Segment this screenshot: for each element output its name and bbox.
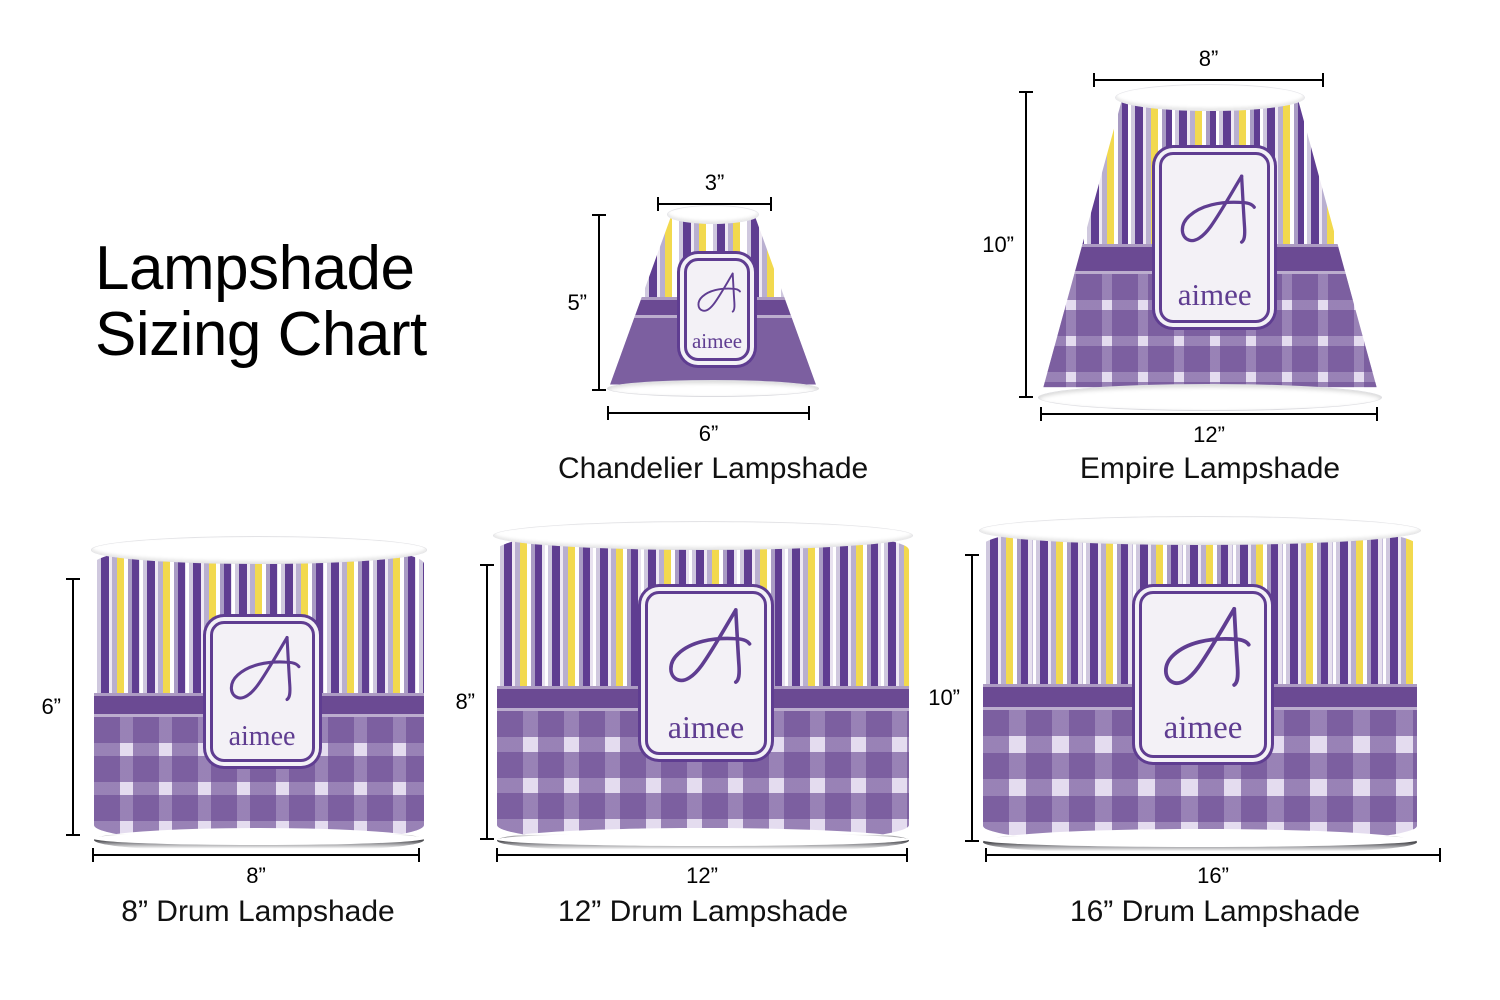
drum12-bottom-dimension: 12”	[496, 848, 908, 862]
drum8-shade-illustration: aimee	[94, 543, 424, 843]
monogram-name: aimee	[687, 331, 748, 352]
monogram-name: aimee	[648, 711, 763, 743]
drum16-height-dimension: 10”	[965, 554, 979, 842]
chandelier-top-rim	[667, 205, 759, 224]
drum12-caption: 12” Drum Lampshade	[548, 895, 858, 929]
chandelier-height-label: 5”	[567, 290, 587, 316]
drum16-bottom-lip	[983, 833, 1417, 847]
dimension-bar	[1093, 79, 1324, 81]
title-line-2: Sizing Chart	[95, 302, 525, 368]
empire-bottom-label: 12”	[1040, 422, 1378, 448]
drum12-monogram-plaque: aimee	[645, 591, 766, 755]
drum16-top-rim	[979, 516, 1422, 545]
chandelier-caption: Chandelier Lampshade	[558, 452, 868, 486]
drum16-shade-illustration: aimee	[983, 523, 1417, 845]
dimension-cap-right	[418, 848, 420, 862]
title-line-1: Lampshade	[95, 236, 525, 302]
dimension-cap-right	[906, 848, 908, 862]
dimension-bar	[72, 578, 74, 836]
drum12-height-dimension: 8”	[480, 564, 494, 840]
dimension-cap-bottom	[1019, 396, 1033, 398]
drum8-top-rim	[91, 536, 428, 564]
dimension-bar	[971, 554, 973, 842]
empire-bottom-dimension: 12”	[1040, 407, 1378, 421]
drum16-bottom-label: 16”	[985, 863, 1441, 889]
drum16-monogram-plaque: aimee	[1139, 591, 1267, 758]
dimension-cap-right	[1439, 848, 1441, 862]
chandelier-height-dimension: 5”	[592, 214, 606, 391]
empire-height-label: 10”	[982, 232, 1014, 258]
drum8-height-label: 6”	[41, 694, 61, 720]
chandelier-bottom-rim	[607, 380, 819, 397]
dimension-cap-bottom	[66, 834, 80, 836]
drum12-top-rim	[493, 521, 913, 550]
monogram-name: aimee	[1162, 279, 1267, 310]
dimension-bar	[985, 854, 1441, 856]
dimension-cap-right	[1376, 407, 1378, 421]
dimension-bar	[92, 854, 420, 856]
monogram-initial	[687, 263, 748, 323]
page-title: Lampshade Sizing Chart	[95, 236, 525, 367]
empire-monogram-plaque: aimee	[1159, 152, 1270, 323]
drum12-bottom-label: 12”	[496, 863, 908, 889]
chandelier-monogram-plaque: aimee	[684, 258, 751, 361]
lampshade-sizing-chart: Lampshade Sizing Chart 3” 5”	[0, 0, 1500, 1000]
empire-shade-illustration: aimee	[1040, 85, 1380, 403]
dimension-cap-right	[808, 406, 810, 420]
chandelier-bottom-label: 6”	[607, 421, 810, 447]
monogram-initial	[648, 597, 763, 695]
chandelier-bottom-dimension: 6”	[607, 406, 810, 420]
chandelier-top-label: 3”	[657, 170, 772, 196]
empire-height-dimension: 10”	[1019, 91, 1033, 398]
drum8-bottom-dimension: 8”	[92, 848, 420, 862]
dimension-cap-bottom	[480, 838, 494, 840]
drum12-shade-illustration: aimee	[497, 528, 909, 844]
monogram-name: aimee	[213, 723, 312, 751]
drum16-bottom-dimension: 16”	[985, 848, 1441, 862]
chandelier-shade-illustration: aimee	[608, 206, 818, 392]
drum16-height-label: 10”	[928, 685, 960, 711]
dimension-bar	[598, 214, 600, 391]
monogram-name: aimee	[1142, 712, 1264, 745]
dimension-bar	[607, 412, 810, 414]
monogram-initial	[213, 627, 312, 711]
monogram-initial	[1162, 158, 1267, 261]
empire-top-label: 8”	[1093, 46, 1324, 72]
dimension-bar	[1040, 413, 1378, 415]
drum8-height-dimension: 6”	[66, 578, 80, 836]
dimension-bar	[496, 854, 908, 856]
drum8-caption: 8” Drum Lampshade	[103, 895, 413, 929]
dimension-cap-bottom	[965, 840, 979, 842]
drum8-bottom-label: 8”	[92, 863, 420, 889]
drum8-bottom-lip	[94, 832, 424, 845]
dimension-bar	[486, 564, 488, 840]
monogram-initial	[1142, 597, 1264, 697]
drum12-bottom-lip	[497, 833, 909, 846]
drum12-height-label: 8”	[455, 689, 475, 715]
drum16-caption: 16” Drum Lampshade	[1060, 895, 1370, 929]
dimension-bar	[1025, 91, 1027, 398]
dimension-cap-bottom	[592, 389, 606, 391]
empire-caption: Empire Lampshade	[1055, 452, 1365, 486]
drum8-monogram-plaque: aimee	[210, 621, 315, 762]
